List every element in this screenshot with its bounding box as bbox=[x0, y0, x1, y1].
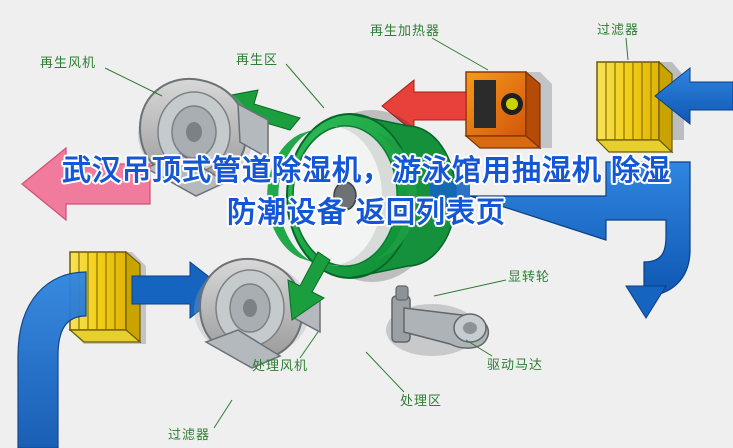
diagram-canvas: 再生风机 再生区 再生加热器 过滤器 显转轮 驱动马达 处理区 处理风机 过滤器… bbox=[0, 0, 733, 448]
label-drying-rotor: 显转轮 bbox=[508, 266, 550, 285]
label-process-zone: 处理区 bbox=[400, 390, 442, 409]
label-regen-zone: 再生区 bbox=[236, 49, 278, 68]
regen-heater-unit bbox=[466, 72, 552, 148]
overlay-title: 武汉吊顶式管道除湿机，游泳馆用抽湿机 除湿防潮设备 返回列表页 bbox=[0, 150, 733, 234]
label-regen-fan: 再生风机 bbox=[40, 52, 96, 71]
label-drive-motor: 驱动马达 bbox=[487, 354, 543, 373]
label-process-fan: 处理风机 bbox=[252, 355, 308, 374]
label-filter-top: 过滤器 bbox=[597, 19, 639, 38]
label-regen-heater: 再生加热器 bbox=[370, 20, 440, 39]
label-filter-bottom: 过滤器 bbox=[168, 424, 210, 443]
